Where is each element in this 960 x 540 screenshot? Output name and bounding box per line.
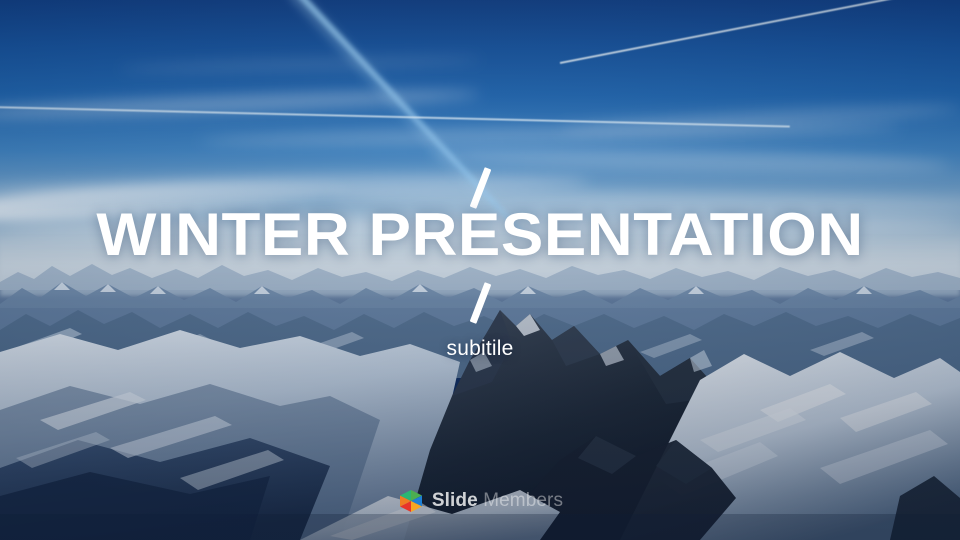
slidemembers-watermark: Slide Members	[0, 487, 960, 515]
slide-subtitle: subitile	[0, 336, 960, 362]
watermark-brand-bold: Slide	[432, 490, 478, 511]
presentation-title-slide: WINTER PRESENTATION subitile Slide Membe…	[0, 0, 960, 540]
slide-title: WINTER PRESENTATION	[0, 204, 960, 266]
watermark-text: Slide Members	[432, 490, 563, 512]
slidemembers-logo-icon	[397, 487, 425, 515]
watermark-brand-light: Members	[478, 490, 563, 511]
